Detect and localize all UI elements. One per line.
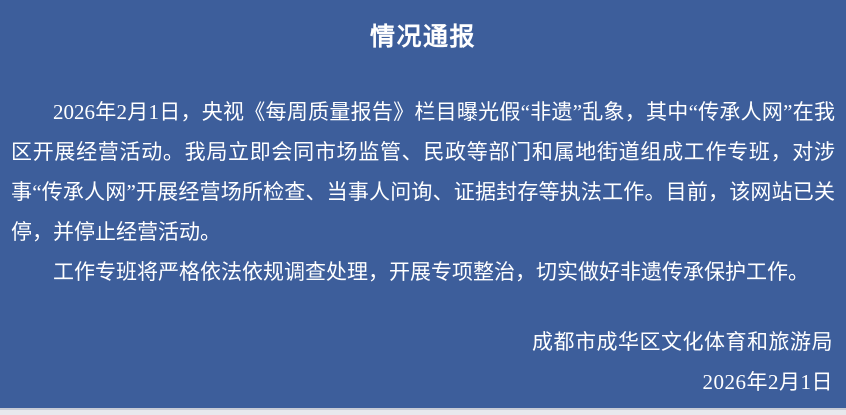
notice-body: 2026年2月1日，央视《每周质量报告》栏目曝光假“非遗”乱象，其中“传承人网”… — [11, 92, 835, 292]
signature-block: 成都市成华区文化体育和旅游局 2026年2月1日 — [333, 322, 833, 402]
notice-paragraph: 2026年2月1日，央视《每周质量报告》栏目曝光假“非遗”乱象，其中“传承人网”… — [11, 92, 835, 252]
notice-card: 情况通报 2026年2月1日，央视《每周质量报告》栏目曝光假“非遗”乱象，其中“… — [0, 0, 846, 415]
issue-date: 2026年2月1日 — [333, 362, 833, 402]
strip-divider — [0, 408, 846, 410]
issuer-name: 成都市成华区文化体育和旅游局 — [333, 322, 833, 362]
bottom-strip — [0, 408, 846, 415]
page-title: 情况通报 — [0, 20, 846, 54]
notice-paragraph: 工作专班将严格依法依规调查处理，开展专项整治，切实做好非遗传承保护工作。 — [11, 252, 835, 292]
